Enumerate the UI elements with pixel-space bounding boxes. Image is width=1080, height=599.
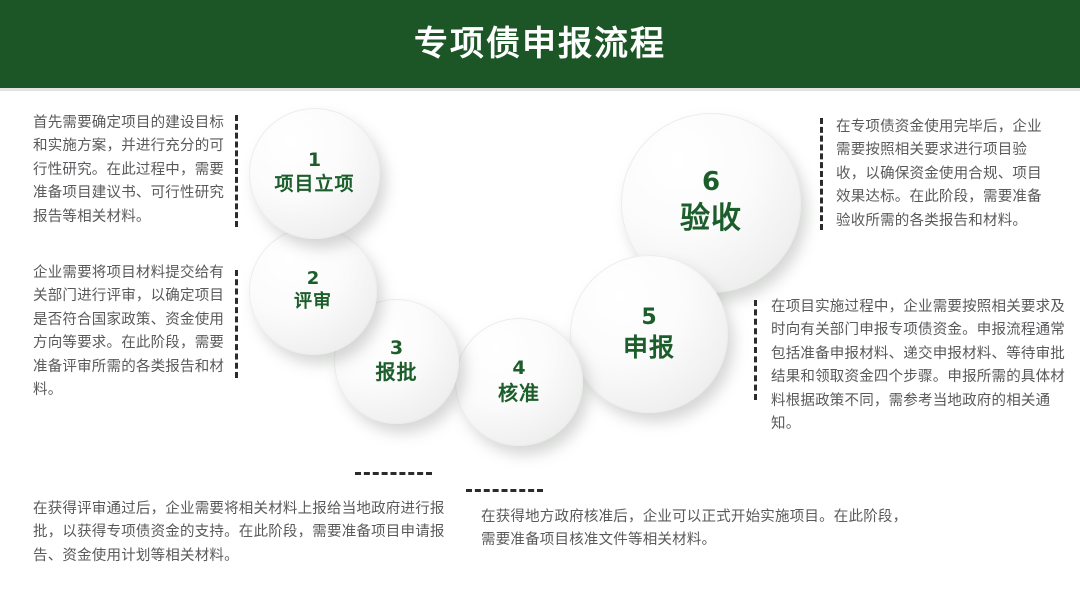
step-number-5: 5: [641, 306, 656, 329]
page-title: 专项债申报流程: [414, 27, 666, 61]
connector-dashed-step5: [754, 300, 757, 400]
step-number-3: 3: [390, 339, 403, 359]
step-label-2: 评审: [294, 292, 332, 313]
header-divider: [0, 88, 1080, 91]
step-number-1: 1: [308, 151, 321, 171]
infographic-page: 专项债申报流程 6 验收 5 申报 4 核准 3 报批 2 评审 1 项目立项 …: [0, 0, 1080, 599]
flow-step-circle-4[interactable]: 4 核准: [455, 318, 583, 446]
note-step-2: 企业需要将项目材料提交给有关部门进行评审，以确定项目是否符合国家政策、资金使用方…: [33, 262, 231, 403]
flow-step-circle-2[interactable]: 2 评审: [249, 227, 377, 355]
connector-dashed-step4: [466, 489, 543, 492]
step-number-4: 4: [512, 359, 525, 379]
flow-step-circle-1[interactable]: 1 项目立项: [249, 108, 380, 239]
note-step-3: 在获得评审通过后，企业需要将相关材料上报给当地政府进行报批，以获得专项债资金的支…: [33, 498, 453, 568]
flow-step-circle-5[interactable]: 5 申报: [570, 255, 728, 413]
header-banner: 专项债申报流程: [0, 0, 1080, 88]
step-label-4: 核准: [498, 382, 540, 405]
note-step-1: 首先需要确定项目的建设目标和实施方案，并进行充分的可行性研究。在此过程中，需要准…: [33, 112, 231, 229]
step-label-6: 验收: [680, 202, 742, 237]
connector-dashed-step3: [355, 472, 432, 475]
connector-dashed-step2: [235, 270, 238, 378]
step-label-5: 申报: [623, 334, 675, 363]
note-step-5: 在项目实施过程中，企业需要按照相关要求及时向有关部门申报专项债资金。申报流程通常…: [771, 296, 1071, 437]
step-label-1: 项目立项: [274, 174, 354, 196]
connector-dashed-step1: [235, 115, 238, 227]
connector-dashed-step6: [820, 118, 823, 230]
step-number-6: 6: [702, 169, 720, 196]
note-step-6: 在专项债资金使用完毕后，企业需要按照相关要求进行项目验收，以确保资金使用合规、项…: [836, 116, 1052, 233]
step-number-2: 2: [307, 270, 320, 289]
note-step-4: 在获得地方政府核准后，企业可以正式开始实施项目。在此阶段，需要准备项目核准文件等…: [481, 506, 911, 553]
step-label-3: 报批: [376, 361, 418, 384]
